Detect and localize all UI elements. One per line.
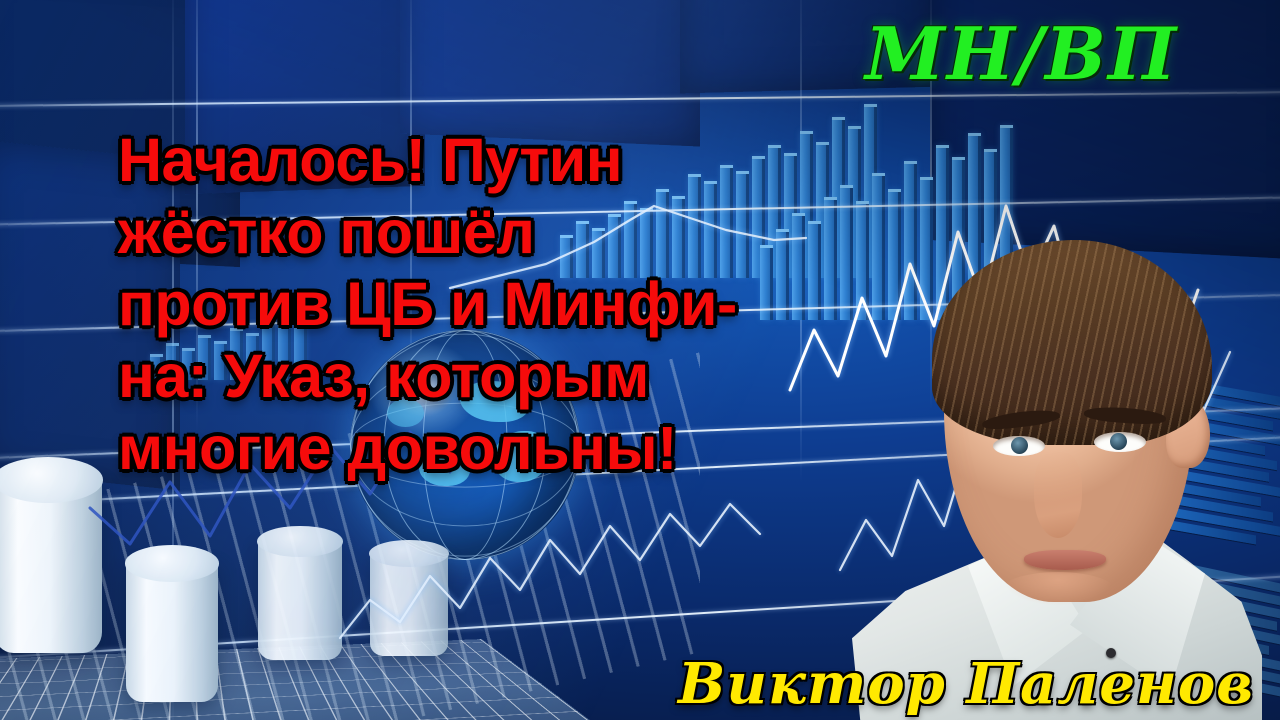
headline-line-5: многие довольны! <box>118 412 938 484</box>
hair <box>932 240 1212 445</box>
thumbnail-canvas: Началось! Путин жёстко пошёл против ЦБ и… <box>0 0 1280 720</box>
author-signature: Виктор Паленов <box>678 656 1254 712</box>
headline-text: Началось! Путин жёстко пошёл против ЦБ и… <box>118 124 938 484</box>
headline-line-1: Началось! Путин <box>118 124 938 196</box>
nose <box>1034 452 1082 538</box>
mouth <box>1024 550 1106 570</box>
channel-monogram-logo: МН/ВП <box>865 18 1178 90</box>
iris-right <box>1110 433 1127 450</box>
headline-line-2: жёстко пошёл <box>118 196 938 268</box>
iris-left <box>1011 437 1028 454</box>
headline-line-3: против ЦБ и Минфи- <box>118 268 938 340</box>
headline-line-4: на: Указ, которым <box>118 340 938 412</box>
chin <box>998 572 1118 614</box>
